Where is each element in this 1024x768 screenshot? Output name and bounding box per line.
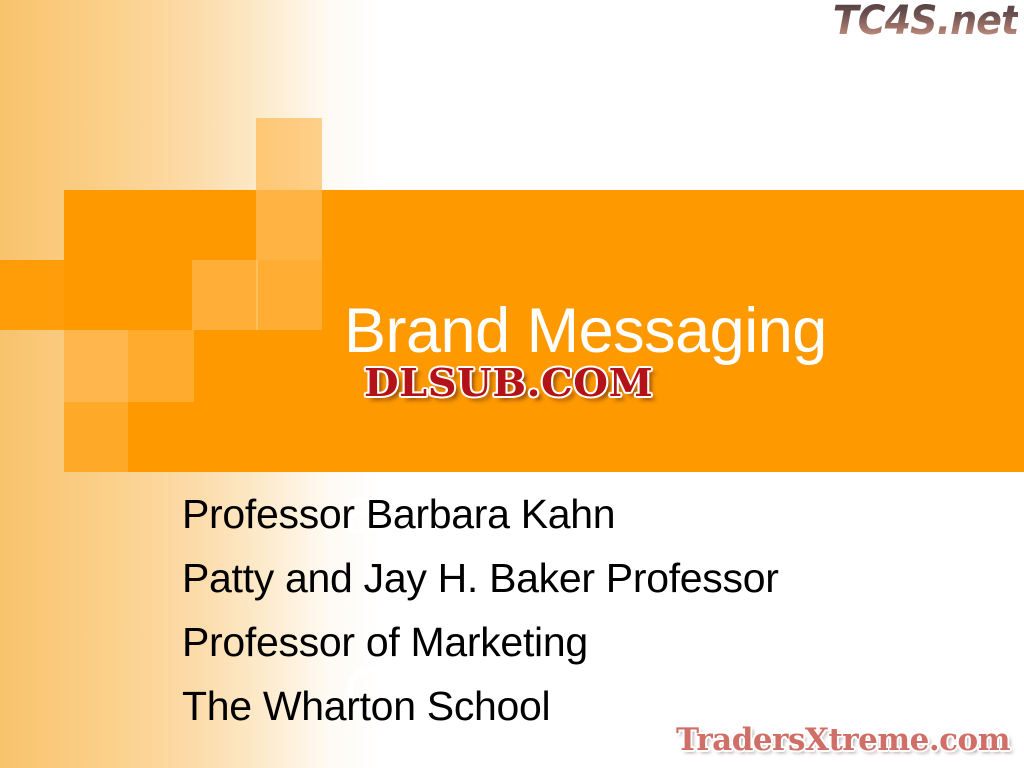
subtitle-line-2: Patty and Jay H. Baker Professor [182, 546, 982, 610]
watermark-tradersxtreme: TradersXtreme.com [676, 722, 1010, 758]
decor-tile [64, 330, 128, 402]
decor-tile [256, 118, 322, 192]
subtitle-line-3: Professor of Marketing [182, 610, 982, 674]
slide-canvas: Brand Messaging and Communications Profe… [0, 0, 1024, 768]
decor-tile [256, 260, 322, 330]
decor-tile [128, 330, 194, 402]
decor-tile [192, 260, 258, 330]
decor-tile [128, 260, 192, 330]
decor-tile [192, 190, 258, 260]
decor-tile [64, 402, 128, 472]
watermark-dlsub: DLSUB.COM [364, 360, 653, 405]
slide-subtitle: Professor Barbara Kahn Patty and Jay H. … [182, 482, 982, 738]
decor-tile [0, 260, 64, 330]
decor-tile [256, 190, 322, 260]
subtitle-line-1: Professor Barbara Kahn [182, 482, 982, 546]
watermark-tc4s: TC4S.net [833, 0, 1018, 44]
